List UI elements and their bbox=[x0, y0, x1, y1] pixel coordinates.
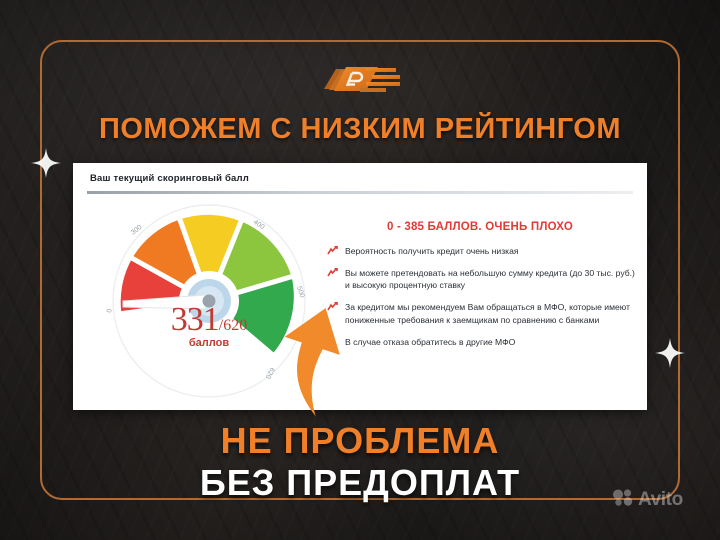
list-item-text: В случае отказа обратитесь в другие МФО bbox=[345, 337, 515, 347]
list-item-text: Вы можете претендовать на небольшую сумм… bbox=[345, 268, 635, 291]
list-item-text: За кредитом мы рекомендуем Вам обращатьс… bbox=[345, 302, 630, 325]
gauge-score-value: 331 bbox=[171, 301, 219, 338]
list-item-text: Вероятность получить кредит очень низкая bbox=[345, 246, 519, 256]
score-category-heading: 0 - 385 БАЛЛОВ. ОЧЕНЬ ПЛОХО bbox=[325, 221, 635, 233]
list-item: Вы можете претендовать на небольшую сумм… bbox=[325, 267, 635, 292]
avito-watermark: Avito bbox=[612, 488, 683, 511]
sparkle-icon bbox=[31, 148, 61, 178]
avito-logo-icon bbox=[612, 488, 634, 511]
headline-top: ПОМОЖЕМ С НИЗКИМ РЕЙТИНГОМ bbox=[0, 113, 720, 146]
curved-arrow-up-icon bbox=[277, 305, 363, 417]
avito-label: Avito bbox=[638, 489, 683, 511]
sparkle-icon bbox=[655, 338, 685, 368]
banner-stage: ПОМОЖЕМ С НИЗКИМ РЕЙТИНГОМ Ваш текущий с… bbox=[0, 0, 720, 540]
red-chart-tick-icon bbox=[327, 268, 338, 277]
score-info-block: 0 - 385 БАЛЛОВ. ОЧЕНЬ ПЛОХО Вероятность … bbox=[325, 221, 635, 357]
list-item: За кредитом мы рекомендуем Вам обращатьс… bbox=[325, 301, 635, 326]
ruble-banknote-icon bbox=[316, 55, 408, 103]
list-item: В случае отказа обратитесь в другие МФО bbox=[325, 336, 635, 349]
card-title: Ваш текущий скоринговый балл bbox=[90, 173, 249, 184]
gauge-score-max: /620 bbox=[219, 317, 247, 334]
list-item: Вероятность получить кредит очень низкая bbox=[325, 245, 635, 258]
red-chart-tick-icon bbox=[327, 246, 338, 255]
card-divider bbox=[87, 191, 633, 194]
headline-mid: НЕ ПРОБЛЕМА bbox=[0, 420, 720, 462]
